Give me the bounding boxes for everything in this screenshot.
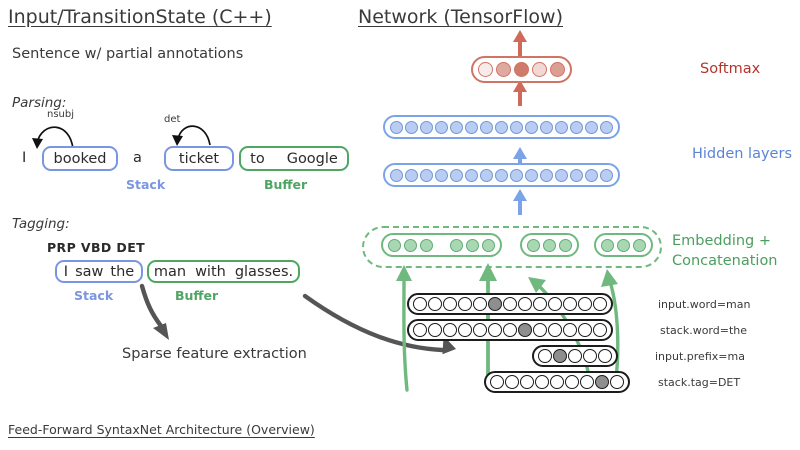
hidden-unit	[480, 169, 493, 182]
feature-unit	[490, 375, 504, 389]
parsing-stack-label: Stack	[126, 177, 165, 192]
feature-row-3[interactable]	[532, 345, 618, 367]
feature-unit	[505, 375, 519, 389]
feature-unit	[428, 297, 442, 311]
softmax-unit	[478, 62, 493, 77]
parsing-token-i: I	[22, 150, 26, 166]
feature-unit	[583, 349, 597, 363]
hidden-unit	[570, 121, 583, 134]
embedding-unit	[543, 239, 556, 252]
hidden-unit	[585, 169, 598, 182]
hidden-unit	[465, 121, 478, 134]
feature-unit	[443, 323, 457, 337]
chip-word: saw	[75, 264, 103, 280]
embedding-unit	[633, 239, 646, 252]
feature-unit-active	[553, 349, 567, 363]
feature-unit	[518, 297, 532, 311]
parsing-buffer-chip[interactable]: to Google	[239, 146, 349, 171]
feature-unit	[598, 349, 612, 363]
hidden-unit	[405, 121, 418, 134]
feature-unit	[520, 375, 534, 389]
chip-word: glasses.	[235, 264, 293, 280]
softmax-label: Softmax	[700, 61, 760, 77]
softmax-unit	[496, 62, 511, 77]
left-panel-subtitle: Sentence w/ partial annotations	[12, 46, 243, 62]
embedding-label-line1: Embedding +	[672, 232, 778, 252]
hidden-unit	[525, 169, 538, 182]
feature-unit	[503, 323, 517, 337]
embedding-concat-label: Embedding + Concatenation	[672, 232, 778, 271]
embedding-group-2[interactable]	[520, 233, 579, 257]
hidden-unit	[420, 169, 433, 182]
hidden-unit	[540, 121, 553, 134]
embedding-group-1[interactable]	[381, 233, 502, 257]
feature-unit-active	[595, 375, 609, 389]
feature-unit	[563, 297, 577, 311]
parsing-buffer-label: Buffer	[264, 177, 307, 192]
feature-row-4[interactable]	[484, 371, 630, 393]
softmax-unit	[514, 62, 529, 77]
feature-unit	[610, 375, 624, 389]
feature-row-1[interactable]	[407, 293, 613, 315]
feature-unit	[473, 297, 487, 311]
hidden-unit	[435, 169, 448, 182]
feature-label-4: stack.tag=DET	[658, 376, 740, 389]
feature-unit	[593, 297, 607, 311]
figure-caption: Feed-Forward SyntaxNet Architecture (Ove…	[8, 422, 315, 437]
feature-unit	[458, 297, 472, 311]
hidden-unit	[525, 121, 538, 134]
parsing-stack-chip-ticket[interactable]: ticket	[164, 146, 234, 171]
feature-unit-active	[488, 297, 502, 311]
feature-unit	[428, 323, 442, 337]
feature-label-3: input.prefix=ma	[655, 350, 745, 363]
embedding-unit	[482, 239, 495, 252]
chip-word: man	[154, 264, 186, 280]
embedding-unit	[466, 239, 479, 252]
feature-unit	[548, 297, 562, 311]
tagging-buffer-chip[interactable]: man with glasses.	[147, 260, 300, 283]
hidden-layer-top[interactable]	[383, 115, 620, 139]
feature-unit	[580, 375, 594, 389]
hidden-layers-label: Hidden layers	[692, 146, 792, 162]
hidden-unit	[555, 121, 568, 134]
chip-word: Google	[281, 151, 344, 167]
embedding-unit	[617, 239, 630, 252]
tagging-section-label: Tagging:	[12, 216, 70, 232]
tagging-stack-label: Stack	[74, 288, 113, 303]
chip-word: with	[195, 264, 226, 280]
feature-unit	[563, 323, 577, 337]
feature-unit	[413, 297, 427, 311]
feature-unit	[535, 375, 549, 389]
hidden-unit	[450, 121, 463, 134]
arc-label-nsubj: nsubj	[47, 109, 74, 120]
feature-unit	[578, 297, 592, 311]
hidden-unit	[465, 169, 478, 182]
embedding-unit	[388, 239, 401, 252]
feature-unit	[538, 349, 552, 363]
embedding-label-line2: Concatenation	[672, 252, 778, 272]
hidden-unit	[450, 169, 463, 182]
feature-unit	[533, 297, 547, 311]
hidden-unit	[510, 121, 523, 134]
hidden-unit	[570, 169, 583, 182]
softmax-layer[interactable]	[471, 56, 572, 83]
hidden-unit	[495, 169, 508, 182]
feature-unit	[548, 323, 562, 337]
hidden-unit	[390, 121, 403, 134]
feature-unit	[413, 323, 427, 337]
hidden-unit	[510, 169, 523, 182]
feature-unit	[488, 323, 502, 337]
embedding-unit	[420, 239, 433, 252]
parsing-stack-chip-booked[interactable]: booked	[42, 146, 118, 171]
hidden-unit	[600, 121, 613, 134]
chip-word: booked	[48, 151, 113, 167]
hidden-unit	[435, 121, 448, 134]
right-panel-title: Network (TensorFlow)	[358, 6, 563, 28]
feature-label-2: stack.word=the	[660, 324, 747, 337]
chip-word: to	[244, 151, 271, 167]
hidden-unit	[420, 121, 433, 134]
feature-unit	[568, 349, 582, 363]
hidden-unit	[585, 121, 598, 134]
embedding-unit	[404, 239, 417, 252]
chip-word: the	[110, 264, 134, 280]
embedding-unit	[559, 239, 572, 252]
softmax-unit	[550, 62, 565, 77]
feature-unit-active	[518, 323, 532, 337]
chip-word: ticket	[173, 151, 225, 167]
softmax-unit	[532, 62, 547, 77]
hidden-unit	[600, 169, 613, 182]
tagging-tags: PRP VBD DET	[47, 240, 145, 255]
feature-unit	[565, 375, 579, 389]
feature-unit	[533, 323, 547, 337]
parsing-token-a: a	[133, 150, 142, 166]
chip-word: I	[64, 264, 68, 280]
embedding-unit	[527, 239, 540, 252]
hidden-unit	[480, 121, 493, 134]
hidden-unit	[405, 169, 418, 182]
feature-row-2[interactable]	[407, 319, 613, 341]
arc-label-det: det	[164, 114, 180, 125]
tagging-stack-chip[interactable]: I saw the	[55, 260, 143, 283]
hidden-unit	[495, 121, 508, 134]
feature-unit	[578, 323, 592, 337]
hidden-layer-bottom[interactable]	[383, 163, 620, 187]
feature-unit	[443, 297, 457, 311]
sparse-feature-extraction-label: Sparse feature extraction	[122, 346, 307, 362]
feature-unit	[550, 375, 564, 389]
hidden-unit	[555, 169, 568, 182]
embedding-group-3[interactable]	[594, 233, 653, 257]
feature-unit	[458, 323, 472, 337]
hidden-unit	[390, 169, 403, 182]
embedding-unit	[601, 239, 614, 252]
feature-unit	[593, 323, 607, 337]
hidden-unit	[540, 169, 553, 182]
feature-unit	[473, 323, 487, 337]
feature-label-1: input.word=man	[658, 298, 750, 311]
left-panel-title: Input/TransitionState (C++)	[8, 6, 272, 28]
feature-unit	[503, 297, 517, 311]
embedding-unit	[450, 239, 463, 252]
